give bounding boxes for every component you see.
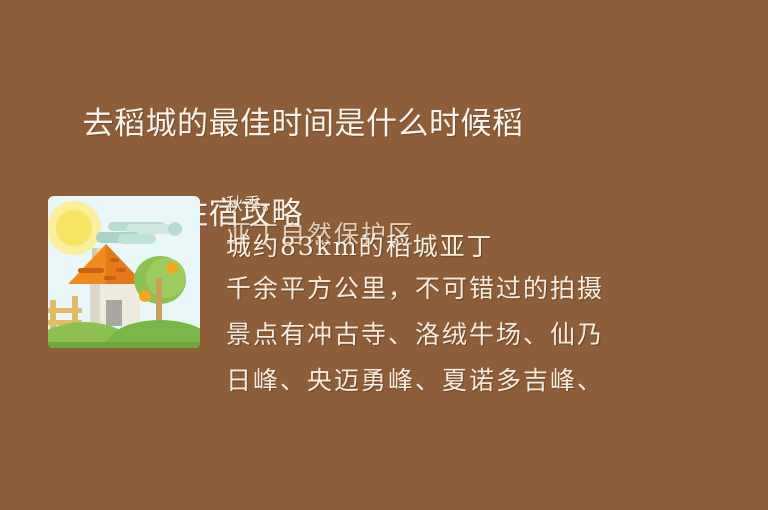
- cloud-icon: [168, 222, 182, 236]
- fruit-icon: [139, 290, 151, 302]
- ground-strip: [48, 342, 200, 348]
- sun-icon: [56, 210, 92, 246]
- article-thumbnail-image: [48, 196, 200, 348]
- body-line-overlap-bottom: 城约83km的稻城亚丁: [226, 224, 494, 270]
- body-line-4: 日峰、央迈勇峰、夏诺多吉峰、: [226, 358, 656, 404]
- fence-rail: [48, 308, 82, 313]
- article-body-text: 秋季。 亚丁自然保护区 城约83km的稻城亚丁 千余平方公里，不可错过的拍摄 景…: [226, 190, 656, 404]
- roof-beam: [78, 268, 104, 273]
- article-page: 去稻城的最佳时间是什么时候稻 城旅游住宿攻略: [0, 0, 768, 510]
- roof-tile: [116, 268, 126, 272]
- body-line-2: 千余平方公里，不可错过的拍摄: [226, 266, 656, 312]
- house-wall-shade: [90, 284, 100, 326]
- cloud-icon: [118, 234, 156, 244]
- page-title-line-1: 去稻城的最佳时间是什么时候稻: [82, 106, 523, 141]
- body-line-overlapped: 亚丁自然保护区 城约83km的稻城亚丁: [226, 220, 656, 266]
- fruit-icon: [166, 262, 178, 274]
- tree-foliage-light: [146, 258, 186, 298]
- roof-tile: [110, 258, 119, 262]
- roof-tile: [104, 276, 116, 280]
- body-line-3: 景点有冲古寺、洛绒牛场、仙乃: [226, 312, 656, 358]
- tree-trunk: [156, 278, 162, 320]
- house-door: [106, 300, 122, 326]
